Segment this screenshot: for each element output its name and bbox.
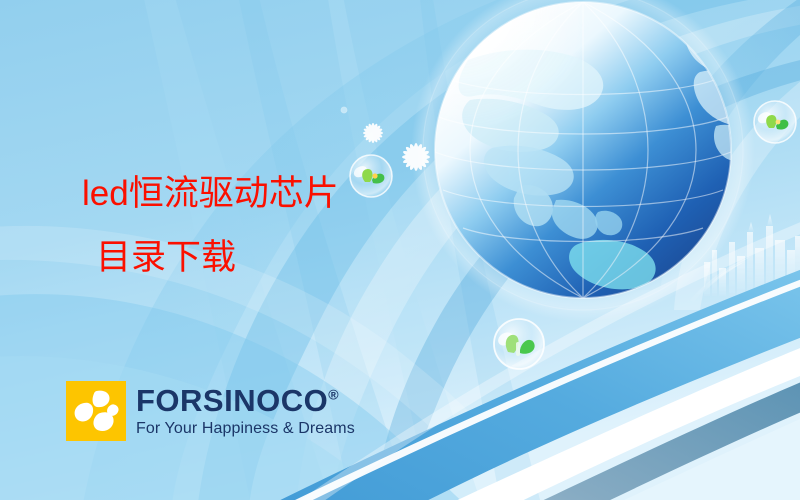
- registered-trademark-icon: ®: [328, 386, 338, 402]
- logo-name: FORSINOCO: [136, 383, 328, 418]
- logo-text-block: FORSINOCO® For Your Happiness & Dreams: [136, 385, 355, 438]
- logo-mark: [66, 381, 126, 441]
- logo-name-row: FORSINOCO®: [136, 385, 355, 416]
- pinwheel-petals-icon: [66, 381, 126, 441]
- logo-tagline: For Your Happiness & Dreams: [136, 420, 355, 438]
- poster-canvas: led恒流驱动芯片 目录下载 FORSINOCO® For Your Happi…: [0, 0, 800, 500]
- company-logo: FORSINOCO® For Your Happiness & Dreams: [66, 381, 355, 441]
